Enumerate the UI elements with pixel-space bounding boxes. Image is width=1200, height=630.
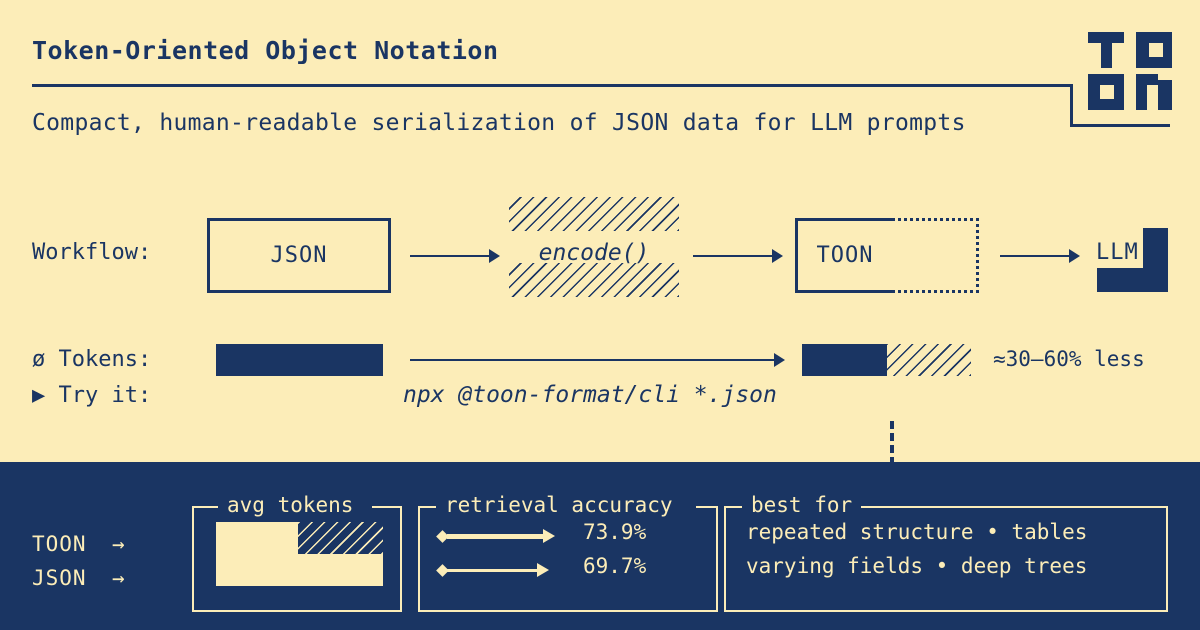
toon-logo-icon (1088, 32, 1172, 110)
panel-bar-toon-solid (216, 522, 298, 554)
panel-row-arrow-toon: → (112, 532, 125, 556)
header-rule-horizontal (32, 84, 1073, 87)
page-title: Token-Oriented Object Notation (32, 36, 499, 65)
workflow-toon-box-dotted-half (892, 218, 979, 293)
best-for-line-toon: repeated structure • tables (746, 520, 1087, 544)
group-retrieval-accuracy-legend: retrieval accuracy (436, 493, 682, 517)
tokens-arrow (410, 350, 785, 370)
try-it-command[interactable]: npx @toon-format/cli *.json (403, 382, 777, 408)
workflow-json-box: JSON (207, 218, 391, 293)
panel-bar-toon-hatch (298, 522, 383, 554)
workflow-toon-box: TOON (795, 218, 979, 293)
workflow-llm-label: LLM (1096, 240, 1139, 265)
try-it-label: ▶ Try it: (32, 383, 151, 408)
encode-hatch-top (509, 197, 679, 231)
workflow-arrow-1 (410, 246, 500, 266)
workflow-label: Workflow: (32, 240, 151, 265)
tokens-savings-label: ≈30–60% less (993, 347, 1145, 371)
panel-bar-json (216, 554, 383, 586)
tokens-bar-toon-solid (802, 344, 887, 376)
best-for-line-json: varying fields • deep trees (746, 554, 1087, 578)
accuracy-arrow-json (438, 558, 563, 584)
accuracy-arrow-toon (438, 524, 563, 550)
group-best-for-legend: best for (742, 493, 861, 517)
header-rule-horizontal-lower (1070, 124, 1170, 127)
panel-row-arrow-json: → (112, 566, 125, 590)
workflow-arrow-3 (1000, 246, 1080, 266)
accuracy-value-toon: 73.9% (583, 520, 646, 544)
panel-row-label-toon: TOON (32, 532, 87, 556)
workflow-toon-label: TOON (795, 218, 892, 293)
group-avg-tokens-legend: avg tokens (218, 493, 362, 517)
comparison-panel: TOON → JSON → avg tokens retrieval accur… (0, 462, 1200, 630)
infographic-canvas: Token-Oriented Object Notation Compact, … (0, 0, 1200, 630)
tokens-label: ø Tokens: (32, 347, 151, 372)
encode-hatch-bottom (509, 263, 679, 297)
page-subtitle: Compact, human-readable serialization of… (32, 110, 966, 136)
tokens-bar-json (216, 344, 383, 376)
workflow-arrow-2 (693, 246, 783, 266)
accuracy-value-json: 69.7% (583, 554, 646, 578)
header-rule-vertical (1070, 84, 1073, 127)
panel-row-label-json: JSON (32, 566, 87, 590)
tokens-bar-toon-hatch (887, 344, 971, 376)
